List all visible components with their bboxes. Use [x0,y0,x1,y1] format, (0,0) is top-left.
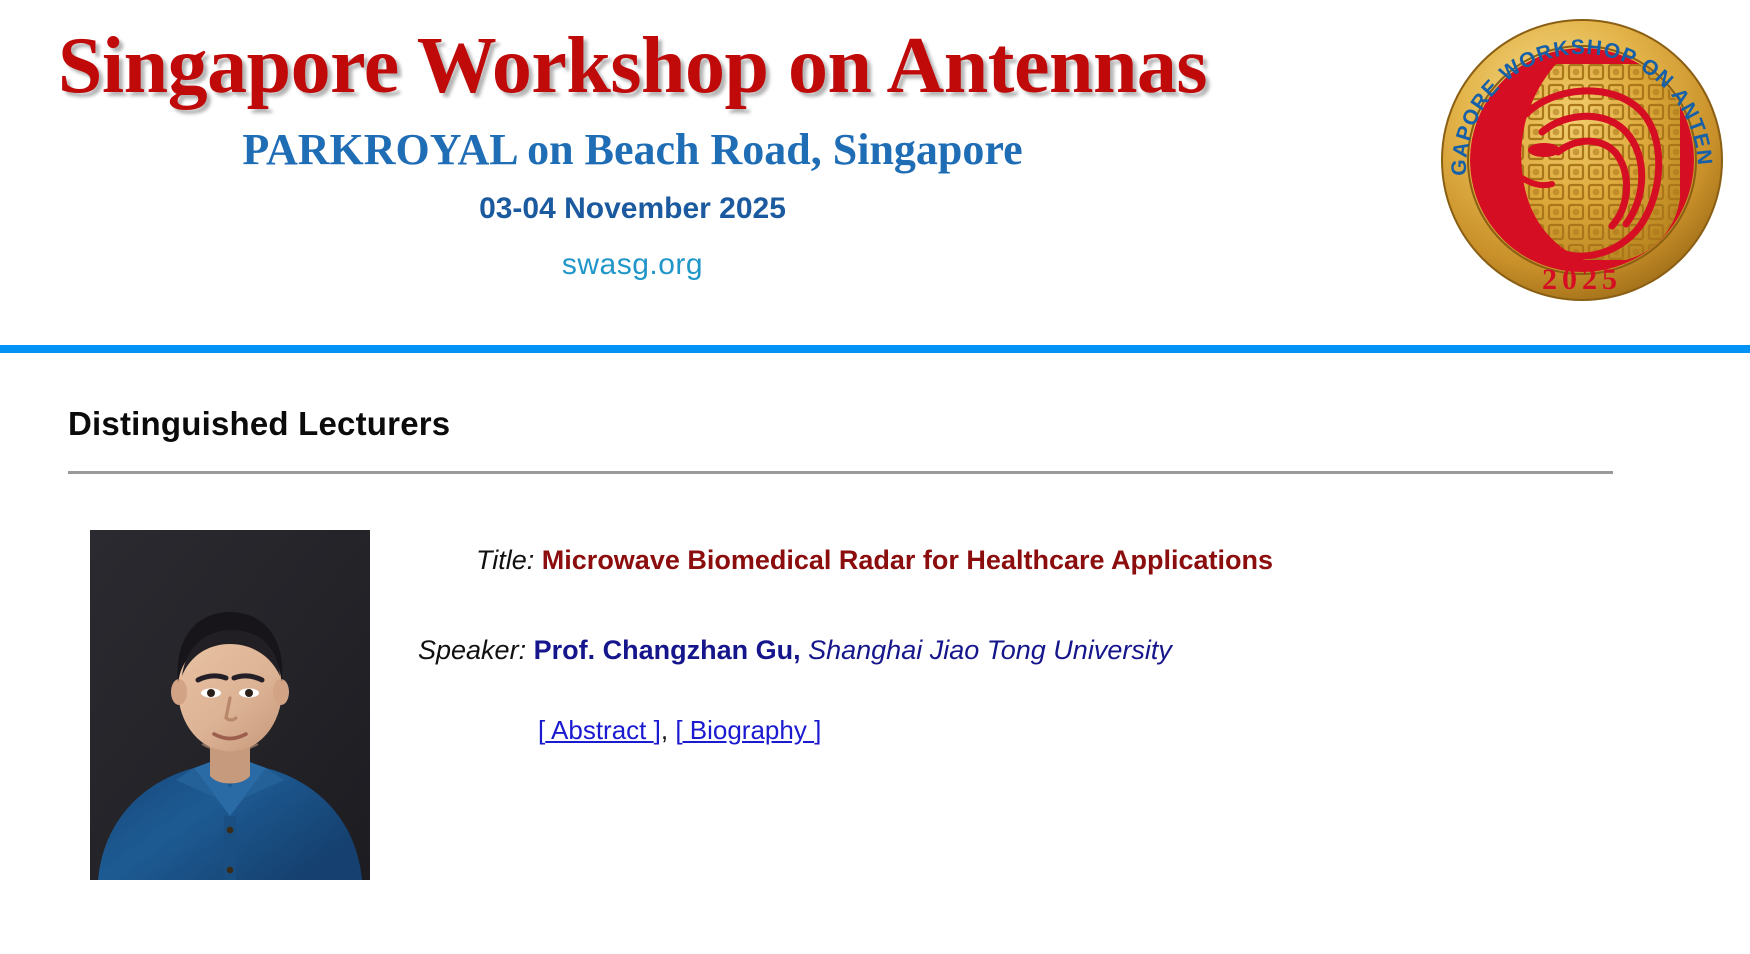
lecture-title-line: Title: Microwave Biomedical Radar for He… [476,544,1750,576]
abstract-link-label: Abstract [545,715,653,745]
abstract-link[interactable]: [ Abstract ] [538,715,661,745]
banner-website-url[interactable]: swasg.org [0,250,1265,280]
abstract-bracket-close: ] [654,715,661,745]
speaker-label: Speaker: [418,635,526,665]
speaker-line: Speaker: Prof. Changzhan Gu, Shanghai Ji… [418,634,1750,666]
banner-venue: PARKROYAL on Beach Road, Singapore [0,128,1265,172]
biography-link[interactable]: [ Biography ] [675,715,821,745]
site-banner: Singapore Workshop on Antennas PARKROYAL… [0,0,1750,345]
title-label: Title: [476,545,534,575]
banner-title: Singapore Workshop on Antennas [0,26,1265,106]
workshop-logo: SINGAPORE WORKSHOP ON ANTENNAS 2025 [1426,2,1738,314]
lecturer-info-cell: Title: Microwave Biomedical Radar for He… [370,530,1750,746]
logo-year: 2025 [1542,263,1622,296]
page-title: Distinguished Lecturers [68,405,1750,443]
banner-date: 03-04 November 2025 [0,194,1265,224]
section-divider [68,471,1613,474]
links-separator: , [661,715,675,745]
header-blue-divider [0,345,1750,353]
biography-bracket-open: [ [675,715,682,745]
biography-bracket-close: ] [814,715,821,745]
banner-text-block: Singapore Workshop on Antennas PARKROYAL… [0,0,1265,280]
speaker-affiliation: Shanghai Jiao Tong University [808,635,1172,665]
main-content: Distinguished Lecturers [0,405,1750,880]
biography-link-label: Biography [683,715,815,745]
speaker-photo [90,530,370,880]
lecturer-links: [ Abstract ], [ Biography ] [538,715,1750,746]
speaker-name: Prof. Changzhan Gu, [534,635,801,665]
lecture-title-value: Microwave Biomedical Radar for Healthcar… [542,545,1273,575]
lecturer-entry: Title: Microwave Biomedical Radar for He… [0,530,1750,880]
lecturer-photo-cell [90,530,370,880]
